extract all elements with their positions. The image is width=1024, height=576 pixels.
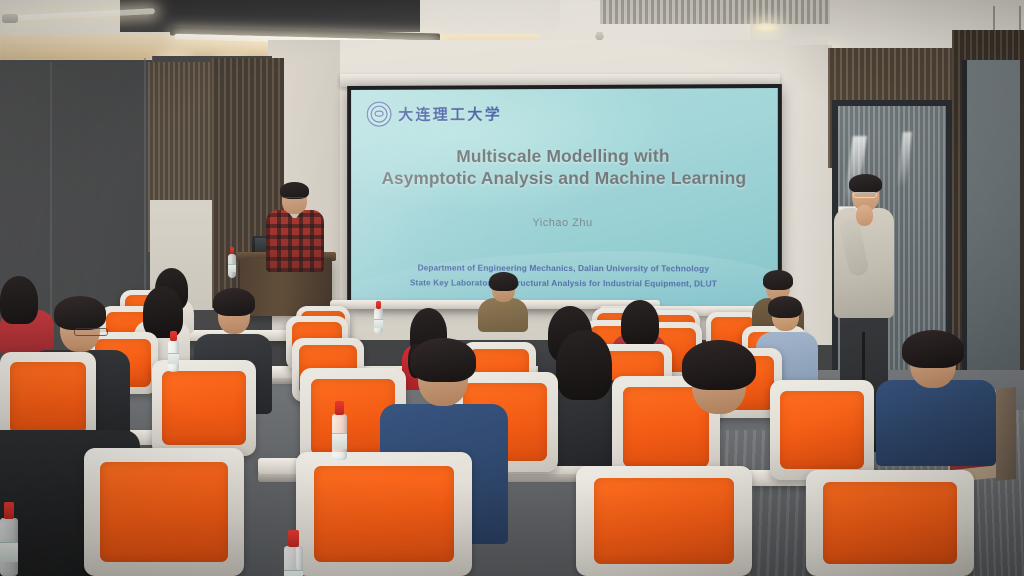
observer-glasses-icon [853,192,877,198]
slide-title-line2: Asymptotic Analysis and Machine Learning [357,167,772,190]
slide-affiliation-line2: State Key Laboratory of Structural Analy… [359,276,770,293]
chair-row2-1 [152,360,256,456]
audience-15-clothing [876,380,996,466]
ceiling-beam-dark [120,0,420,32]
audience-10-glasses-icon [74,328,108,336]
presenter-glasses-icon [283,197,306,202]
slide-author: Yichao Zhu [351,217,778,229]
slide-title-line1: Multiscale Modelling with [357,145,772,168]
ceiling-speaker [2,14,18,23]
audience-9-hair [143,286,183,338]
slide-affiliation-line1: Department of Engineering Mechanics, Dal… [359,260,770,277]
audience-member-2 [478,272,528,328]
chair-front-2 [296,452,472,576]
audience-3-hair [763,270,793,290]
water-bottle-3 [374,308,383,334]
presenter [264,182,326,272]
water-bottle-4 [0,518,18,576]
slide-affiliation: Department of Engineering Mechanics, Dal… [351,260,778,292]
audience-12-hair [556,330,612,400]
slide-title: Multiscale Modelling with Asymptotic Ana… [351,145,778,190]
observer-hand [856,205,873,226]
audience-8-hair [768,296,802,318]
chair-front-4 [806,470,974,576]
audience-13-hair [410,338,476,382]
projector-screen: 大连理工大学 Multiscale Modelling with Asympto… [347,84,782,308]
audience-2-clothing [478,298,528,332]
audience-11-hair [213,288,255,316]
water-bottle-5 [284,546,303,576]
observer-hair [849,174,882,193]
university-seal-icon [367,102,392,127]
water-bottle-2 [168,340,179,372]
water-bottle-1 [332,414,347,460]
presenter-plaid-shirt [266,210,324,272]
cardboard-box-side [996,387,1016,481]
chair-front-3 [576,466,752,576]
downlight-4 [752,22,780,33]
audience-member-15 [876,330,996,460]
audience-10-hair [54,296,106,330]
audience-15-hair [902,330,964,368]
air-conditioning-vent [600,0,830,24]
university-name-cn: 大连理工大学 [398,103,502,124]
chair-front-1 [84,448,244,576]
audience-2-hair [489,272,518,291]
audience-14-hair [682,340,756,390]
water-bottle-6 [228,254,236,278]
lecture-hall-photo: 410 大连理工大学 Multiscale Modelling with Asy… [0,0,1024,576]
presentation-slide: 大连理工大学 Multiscale Modelling with Asympto… [351,88,778,308]
university-logo: 大连理工大学 [367,101,502,126]
